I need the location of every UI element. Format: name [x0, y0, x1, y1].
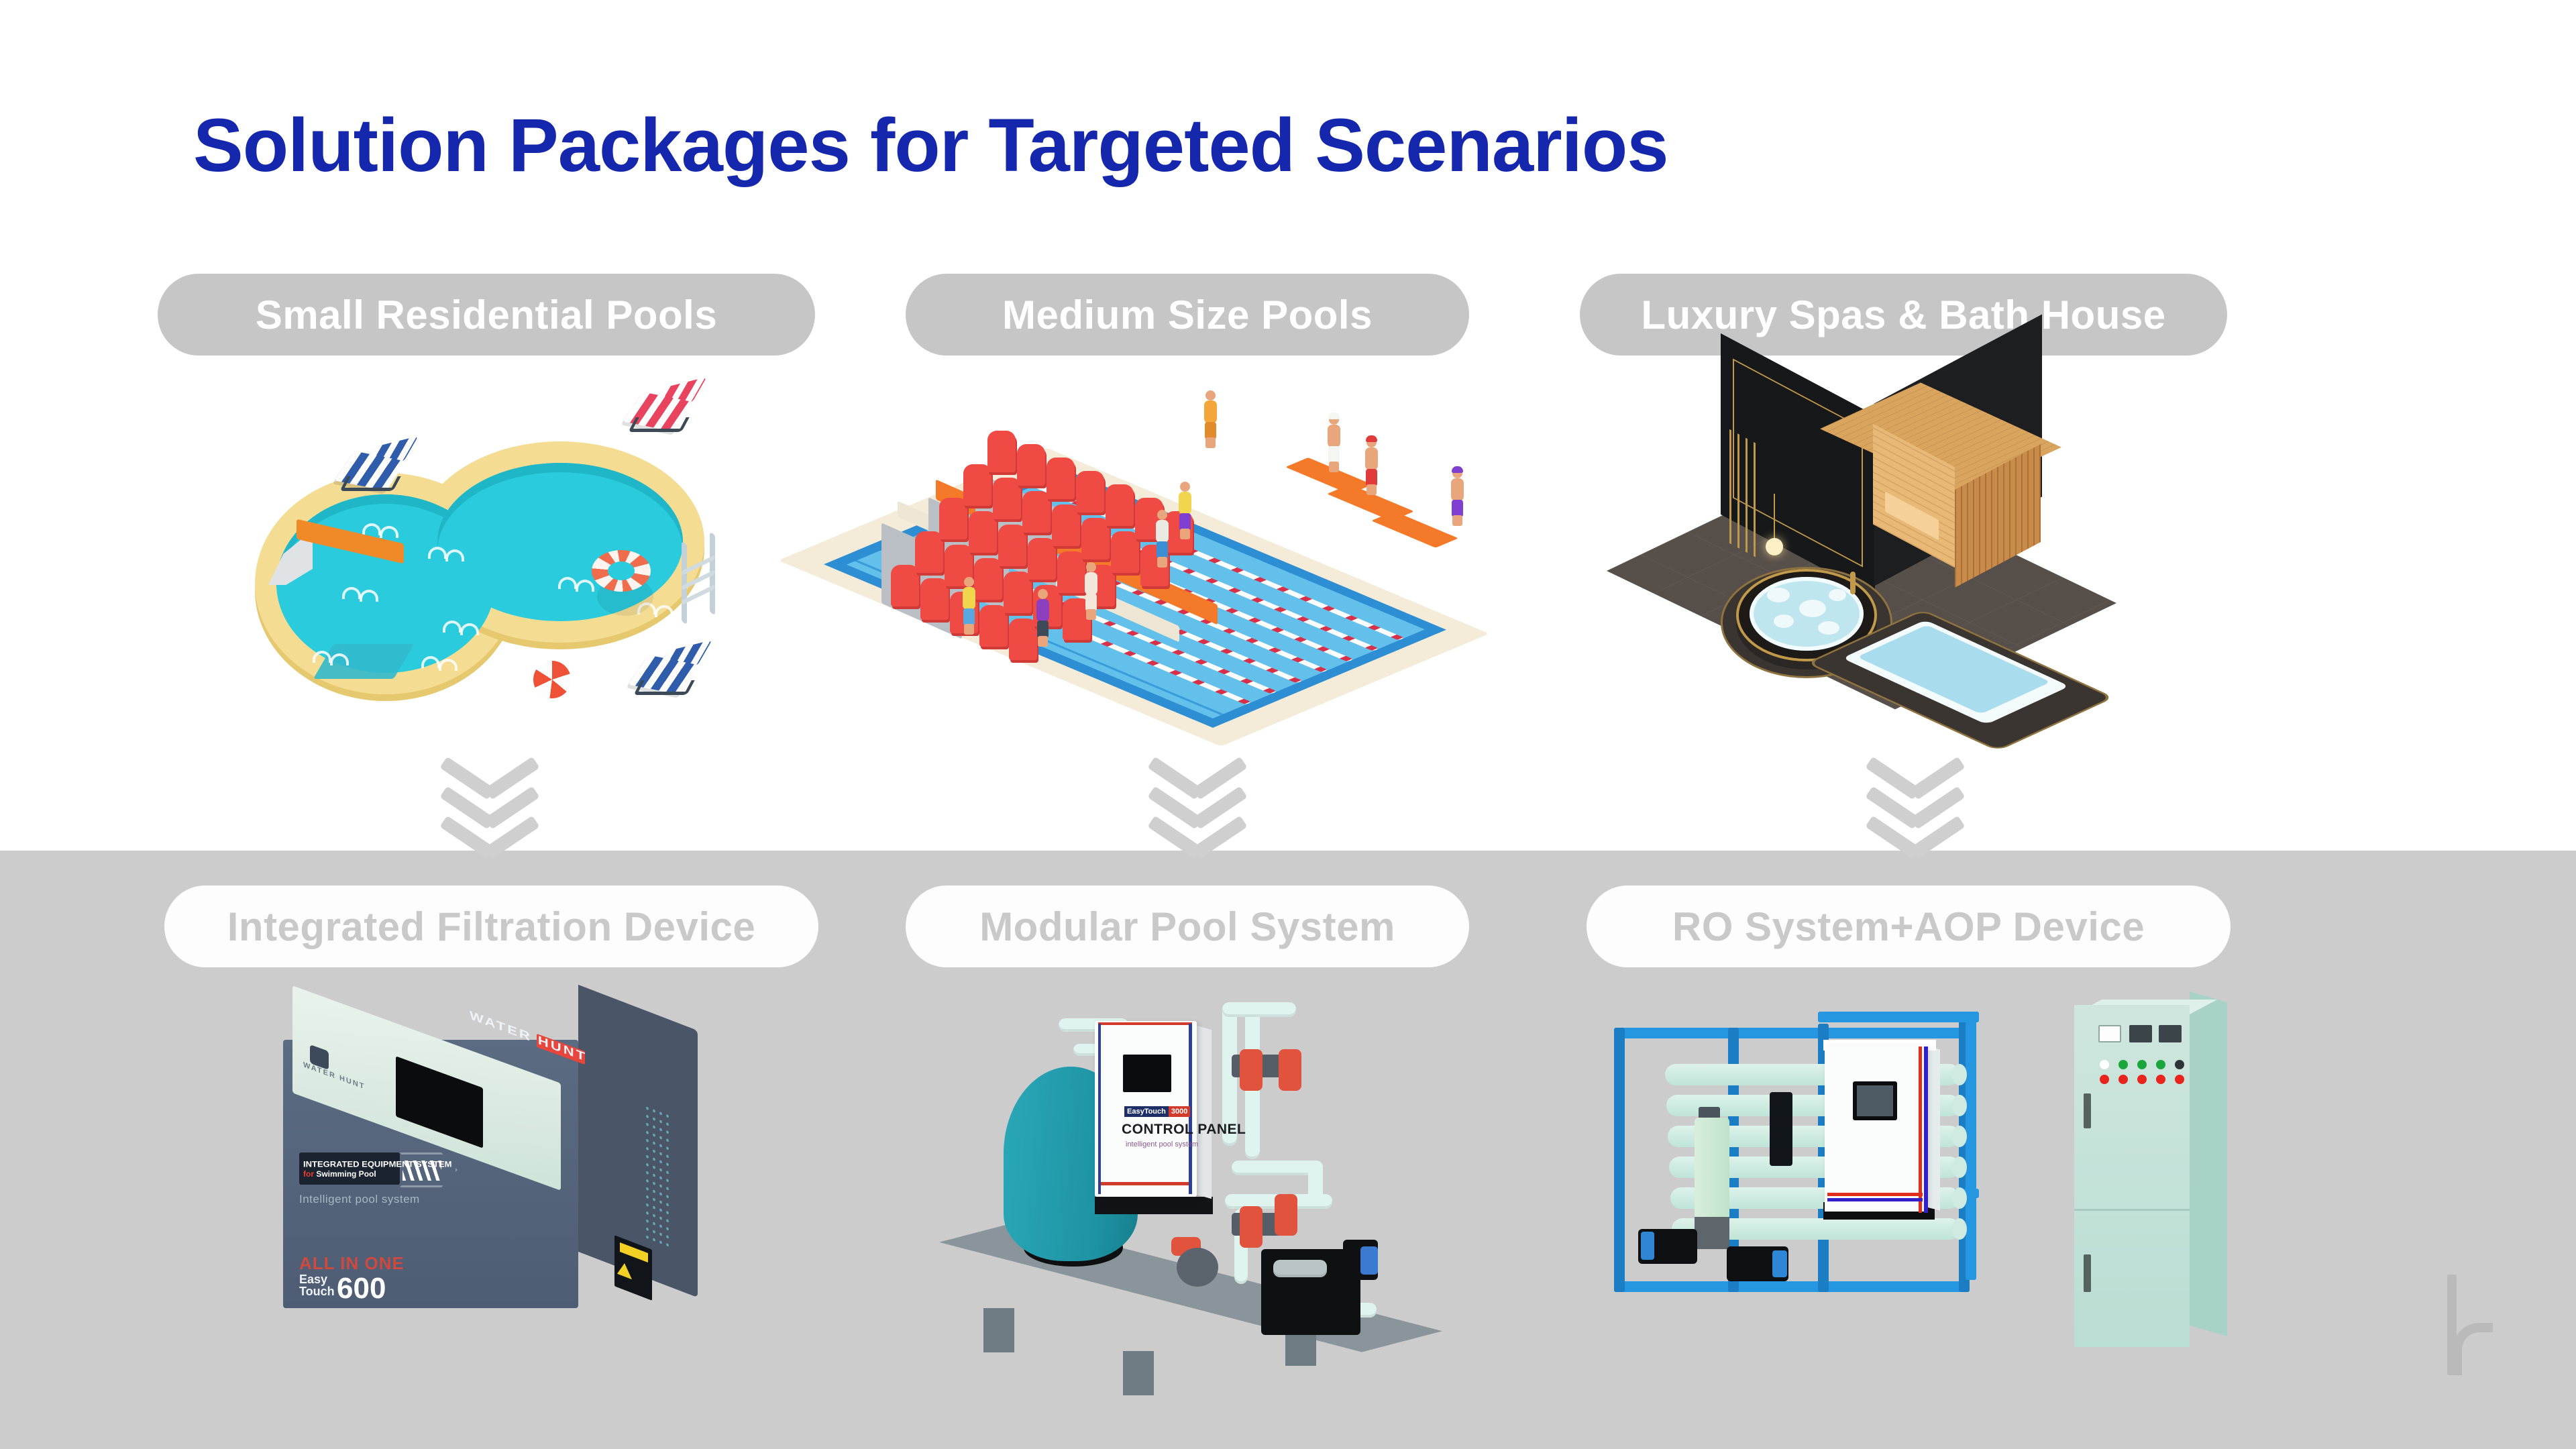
water-wave-icon [428, 547, 467, 560]
swimmer-athlete [1448, 468, 1466, 526]
scenario-label: Medium Size Pools [1002, 292, 1373, 338]
feed-pump-motor-cap [1641, 1232, 1654, 1260]
jacuzzi-faucet-icon [1850, 572, 1856, 594]
media-filter-base [1695, 1217, 1729, 1249]
valve-handle-red[interactable] [1275, 1194, 1297, 1236]
pendant-lamp-wire [1774, 494, 1775, 539]
beach-ball-icon [533, 661, 571, 698]
cabinet-blue-edge [1924, 1046, 1928, 1213]
cabinet-red-base-stripe [1827, 1193, 1923, 1196]
cabinet-side-face [1927, 1046, 1940, 1211]
device-model-prefix: EasyTouch [299, 1273, 335, 1297]
arrow-stripes-icon [402, 1161, 441, 1181]
chevron-down-icon [439, 780, 540, 810]
scenario-label: Small Residential Pools [256, 292, 717, 338]
pallet-leg [983, 1308, 1014, 1352]
indicator-led[interactable] [2137, 1075, 2147, 1084]
life-ring-icon [592, 550, 651, 592]
water-wave-icon [362, 523, 401, 537]
panel-stripe-left [1098, 1024, 1101, 1194]
valve-handle-red[interactable] [1240, 1049, 1263, 1091]
frame-post-left [1614, 1028, 1625, 1292]
flow-arrow-group-1 [439, 750, 540, 844]
solution-label: Integrated Filtration Device [227, 904, 756, 950]
cabinet-door-handle-upper[interactable] [2084, 1093, 2091, 1128]
solution-pill-ro-system-aop-device[interactable]: RO System+AOP Device [1587, 885, 2231, 967]
water-wave-icon [313, 651, 352, 664]
panel-side-face [1197, 1026, 1212, 1199]
scenario-pill-medium-size-pools[interactable]: Medium Size Pools [906, 274, 1469, 356]
frame-bar-top [1614, 1028, 1970, 1038]
panel-display-screen[interactable] [1123, 1055, 1171, 1092]
sticker-line-2: for Swimming Pool [303, 1169, 400, 1179]
chevron-down-icon [1147, 780, 1248, 810]
panel-title: CONTROL PANEL [1122, 1122, 1246, 1138]
indicator-led[interactable] [2156, 1060, 2165, 1069]
carbon-tank [1770, 1092, 1792, 1166]
chevron-down-icon [1147, 750, 1248, 781]
cabinet-door-seam [2074, 1209, 2190, 1211]
starting-block [1371, 511, 1458, 548]
solution-label: RO System+AOP Device [1672, 904, 2145, 950]
device-spec-sticker: INTEGRATED EQUIPMENT SYSTEM for Swimming… [299, 1152, 400, 1185]
indicator-led[interactable] [2100, 1060, 2109, 1069]
frame-bar-bottom [1614, 1281, 1970, 1292]
cabinet-red-edge [1919, 1046, 1922, 1213]
spectator-person [959, 577, 978, 635]
device-all-in-one-label: ALL IN ONE [299, 1253, 405, 1274]
illustration-ro-system [1597, 993, 2012, 1328]
corner-watermark-icon [2435, 1275, 2495, 1382]
badge-brand: EasyTouch [1124, 1106, 1169, 1117]
water-wave-icon [443, 621, 482, 634]
ro-panel-screen[interactable] [1853, 1081, 1897, 1120]
water-wave-icon [421, 656, 460, 669]
valve-handle-red[interactable] [1240, 1206, 1263, 1248]
scenario-pill-small-residential-pools[interactable]: Small Residential Pools [158, 274, 815, 356]
water-wave-icon [558, 577, 597, 590]
solution-pill-modular-pool-system[interactable]: Modular Pool System [906, 885, 1469, 967]
spectator-person [1033, 589, 1052, 647]
chevron-down-icon [439, 750, 540, 781]
device-tagline: Intelligent pool system [299, 1193, 420, 1206]
panel-subtitle: intelligent pool system [1126, 1140, 1198, 1148]
indicator-led[interactable] [2137, 1060, 2147, 1069]
pump-lid [1273, 1260, 1327, 1277]
indicator-led[interactable] [2118, 1075, 2128, 1084]
solution-label: Modular Pool System [979, 904, 1395, 950]
jacuzzi-water [1750, 577, 1864, 651]
aop-meter-display [2098, 1025, 2121, 1042]
pipe-horizontal [1222, 1002, 1296, 1017]
chevron-down-icon [1147, 809, 1248, 840]
aop-meter-display [2159, 1025, 2182, 1042]
frame-bar-top-rear [1818, 1012, 1979, 1022]
aop-cabinet-side [2190, 991, 2227, 1336]
illustration-luxury-spa-sauna-room [1690, 356, 2093, 731]
swimmer-athlete [1324, 415, 1343, 472]
solution-pill-integrated-filtration-device[interactable]: Integrated Filtration Device [164, 885, 818, 967]
device-model-number: 600 [337, 1272, 386, 1305]
pool-lounger-blue-2 [629, 645, 703, 698]
spectator-person [1152, 510, 1171, 568]
spectator-person [1201, 390, 1220, 448]
indicator-led[interactable] [2175, 1060, 2184, 1069]
pump-motor-cap [1360, 1246, 1378, 1275]
panel-base-plinth [1095, 1197, 1213, 1214]
booster-pump-motor-cap [1772, 1250, 1787, 1277]
panel-stripe-bottom [1098, 1182, 1192, 1185]
cabinet-blue-base-stripe [1827, 1198, 1923, 1201]
scenario-label: Luxury Spas & Bath House [1641, 292, 2165, 338]
gold-slat-panel [1729, 429, 1760, 559]
illustration-modular-pool-system: EasyTouch 3000 CONTROL PANEL intelligent… [973, 993, 1429, 1395]
frame-post-rear [1966, 1012, 1976, 1280]
water-wave-icon [342, 587, 381, 600]
spectator-person [1081, 562, 1100, 620]
illustration-integrated-filtration-device: WATER HUNT WATER HUNT INTEGRATED EQUIPME… [268, 993, 738, 1382]
chevron-down-icon [1865, 780, 1966, 810]
pendant-lamp-icon [1766, 538, 1783, 555]
device-vent-grille [644, 1103, 671, 1247]
valve-handle-red[interactable] [1279, 1049, 1301, 1091]
swimmer-athlete [1362, 437, 1381, 495]
pump-flange [1177, 1248, 1218, 1287]
illustration-olympic-competition-pool [872, 362, 1516, 738]
aop-cabinet-front [2074, 1005, 2190, 1347]
pool-lounger-blue [335, 441, 409, 494]
chevron-down-icon [1865, 750, 1966, 781]
pool-lounger-red [624, 382, 698, 435]
indicator-led[interactable] [2156, 1075, 2165, 1084]
badge-model: 3000 [1169, 1106, 1190, 1117]
pool-ladder [678, 533, 724, 627]
page-title: Solution Packages for Targeted Scenarios [193, 102, 1668, 189]
pallet-leg [1123, 1351, 1154, 1395]
illustration-kidney-residential-pool [248, 356, 771, 731]
spectator-person [1175, 482, 1194, 539]
aop-meter-display [2129, 1025, 2152, 1042]
sauna-cabin [1864, 388, 2058, 582]
sticker-line-1: INTEGRATED EQUIPMENT SYSTEM [303, 1159, 400, 1169]
ro-control-cabinet [1825, 1045, 1927, 1212]
panel-stripe-top [1098, 1022, 1192, 1025]
indicator-led[interactable] [2175, 1075, 2184, 1084]
flow-arrow-group-2 [1147, 750, 1248, 844]
slide-canvas: Solution Packages for Targeted Scenarios… [0, 0, 2576, 1449]
chevron-down-icon [1865, 809, 1966, 840]
chevron-down-icon [439, 809, 540, 840]
indicator-led[interactable] [2100, 1075, 2109, 1084]
cabinet-door-handle-lower[interactable] [2084, 1254, 2091, 1292]
illustration-aop-control-cabinet [2059, 993, 2261, 1358]
flow-arrow-group-3 [1865, 750, 1966, 844]
indicator-led[interactable] [2118, 1060, 2128, 1069]
panel-model-badge: EasyTouch 3000 [1124, 1106, 1190, 1118]
scenario-pill-luxury-spas-bath-house[interactable]: Luxury Spas & Bath House [1580, 274, 2227, 356]
